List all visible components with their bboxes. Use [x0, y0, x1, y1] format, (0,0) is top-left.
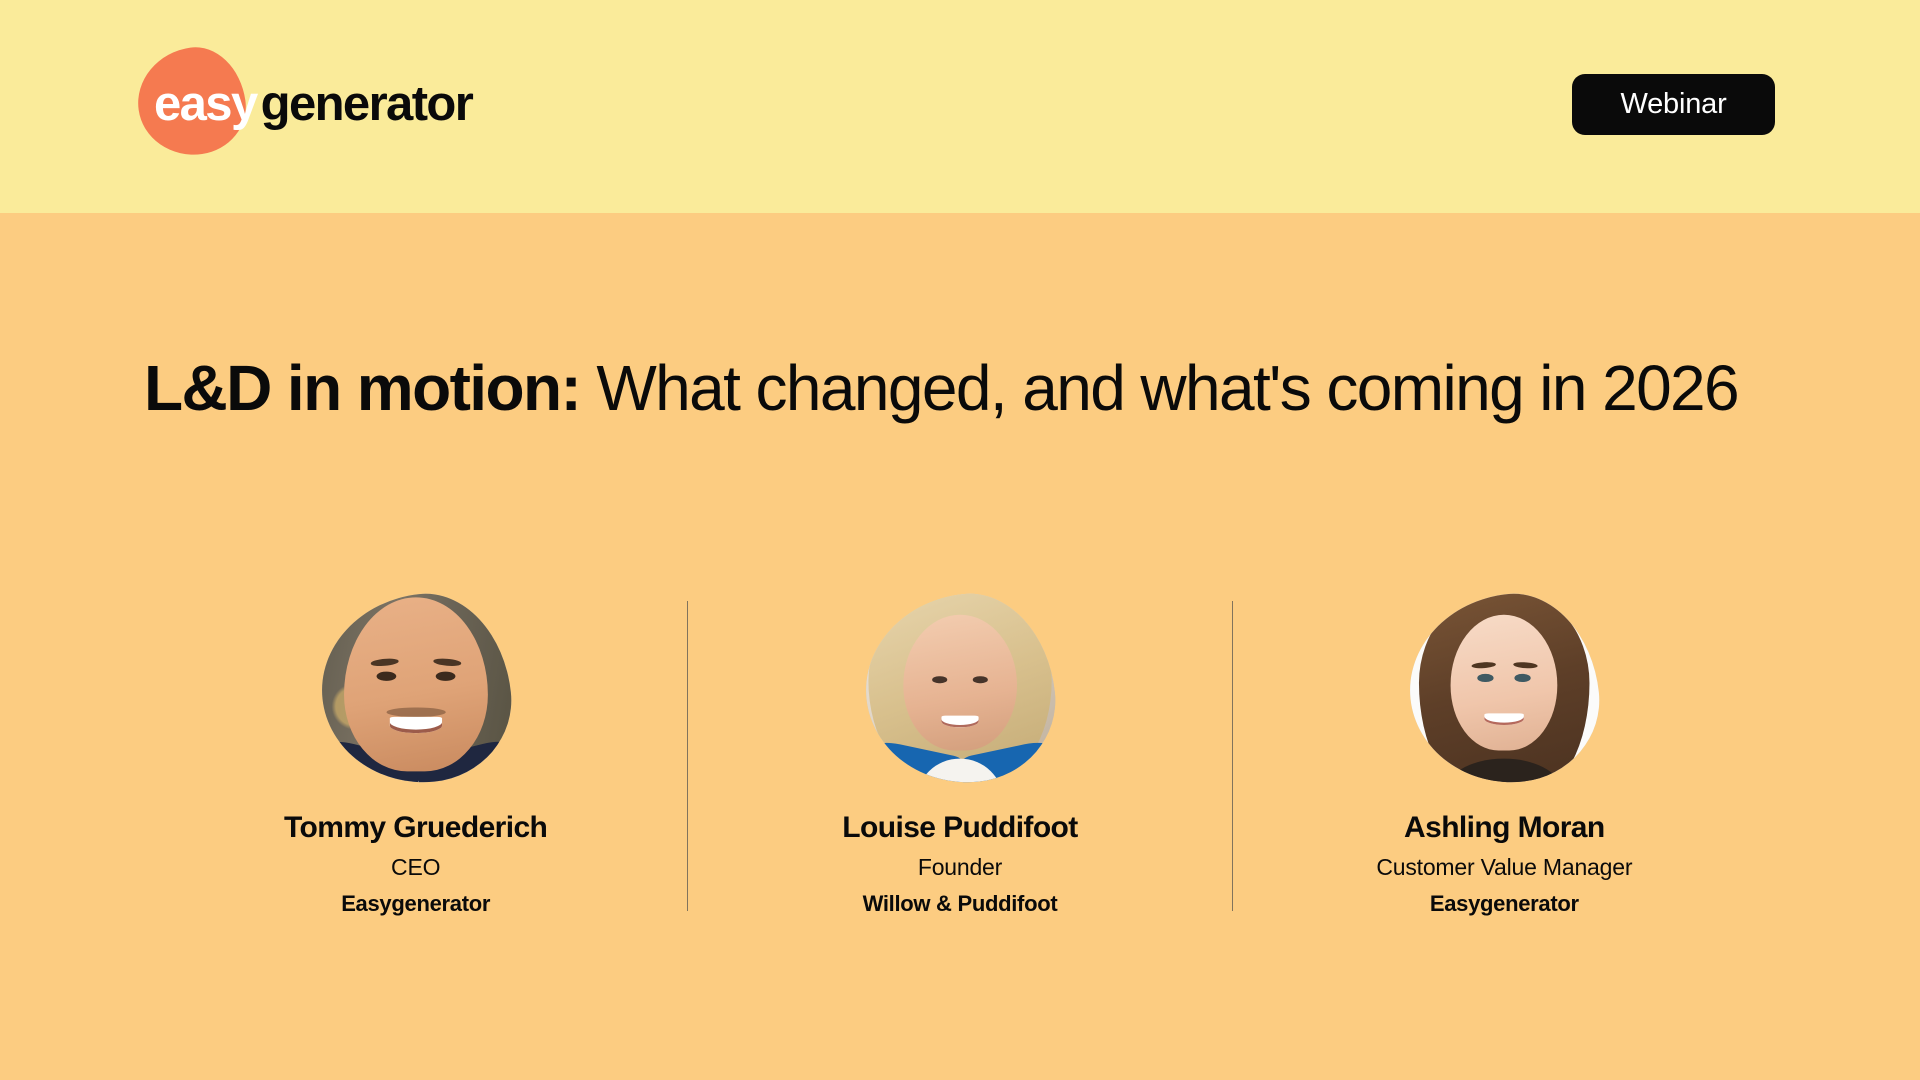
logo-easy-text: easy	[133, 80, 257, 129]
speaker-role: CEO	[391, 854, 440, 880]
logo-generator-text: generator	[261, 80, 473, 129]
headline-rest: What changed, and what's coming in 2026	[580, 352, 1738, 424]
webinar-badge-label: Webinar	[1620, 90, 1726, 119]
speaker-card: Tommy Gruederich CEO Easygenerator	[144, 595, 687, 916]
webinar-promo-slide: easygenerator Webinar L&D in motion: Wha…	[0, 0, 1920, 1080]
avatar	[312, 586, 519, 793]
speaker-name: Ashling Moran	[1404, 811, 1605, 846]
speaker-name: Tommy Gruederich	[284, 811, 547, 846]
webinar-badge: Webinar	[1572, 74, 1775, 135]
speaker-role: Founder	[918, 854, 1002, 880]
avatar	[1401, 586, 1608, 793]
avatar-louise-puddifoot	[857, 586, 1064, 793]
easygenerator-logo[interactable]: easygenerator	[133, 44, 473, 164]
speaker-company: Easygenerator	[341, 891, 490, 916]
avatar	[857, 586, 1064, 793]
avatar-ashling-moran	[1401, 586, 1608, 793]
speaker-role: Customer Value Manager	[1376, 854, 1632, 880]
speaker-company: Willow & Puddifoot	[863, 891, 1058, 916]
avatar-tommy-gruederich	[312, 586, 519, 793]
logo-wordmark: easygenerator	[133, 44, 473, 164]
speaker-card: Ashling Moran Customer Value Manager Eas…	[1233, 595, 1776, 916]
speaker-card: Louise Puddifoot Founder Willow & Puddif…	[688, 595, 1231, 916]
headline-lead: L&D in motion:	[144, 352, 580, 424]
speaker-list: Tommy Gruederich CEO Easygenerator	[144, 595, 1776, 925]
speaker-company: Easygenerator	[1430, 891, 1579, 916]
page-title: L&D in motion: What changed, and what's …	[144, 348, 1784, 429]
speaker-name: Louise Puddifoot	[842, 811, 1077, 846]
